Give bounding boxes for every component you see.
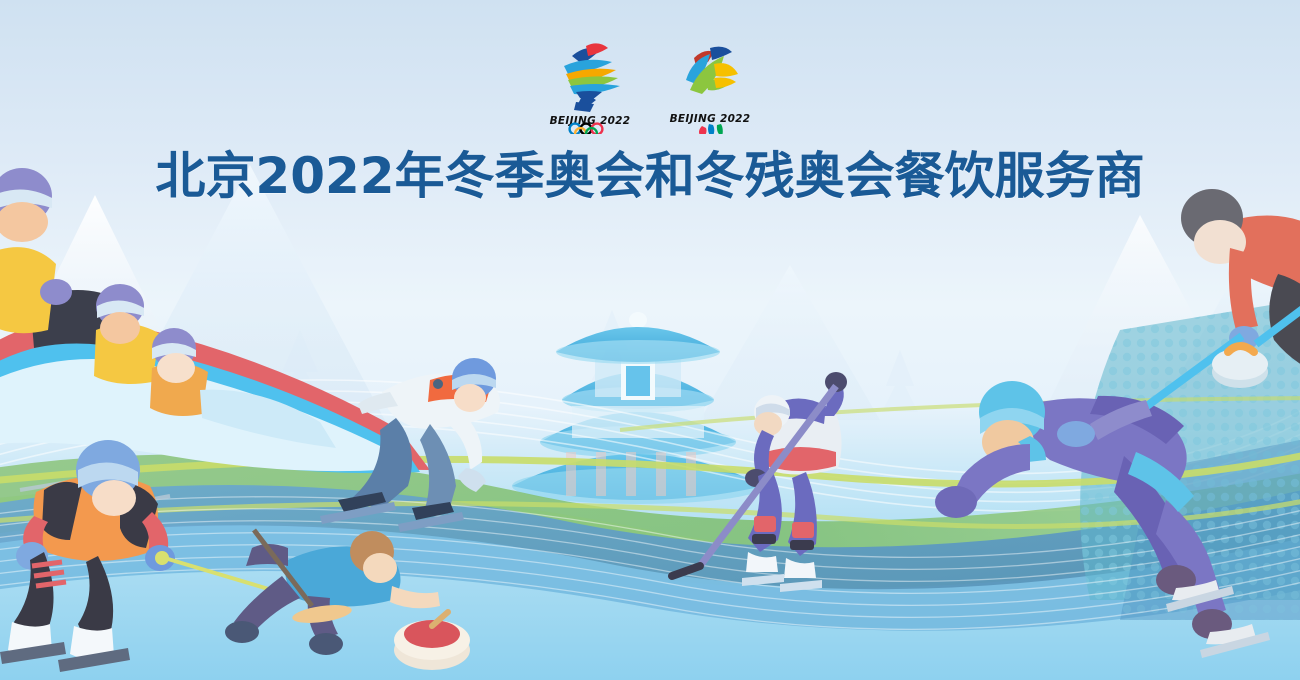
athlete-curler-delivering	[225, 530, 470, 670]
olympic-emblem-glyph	[564, 43, 620, 112]
title-block: 北京2022年冬季奥会和冬残奥会餐饮服务商	[0, 148, 1300, 204]
paralympic-emblem-glyph	[686, 47, 738, 94]
agitos-icon	[699, 124, 723, 134]
paralympic-wordmark: BEIJING 2022	[670, 113, 751, 125]
emblem-row: BEIJING 2022	[0, 34, 1300, 134]
olympic-emblem: BEIJING 2022	[542, 34, 638, 134]
athlete-bobsleigh-team	[0, 168, 430, 520]
curling-stone	[394, 612, 470, 670]
beijing-2022-banner: BEIJING 2022	[0, 0, 1300, 680]
page-title: 北京2022年冬季奥会和冬残奥会餐饮服务商	[155, 148, 1144, 204]
athlete-ice-hockey-player	[672, 372, 847, 592]
paralympic-emblem: BEIJING 2022	[662, 34, 758, 134]
